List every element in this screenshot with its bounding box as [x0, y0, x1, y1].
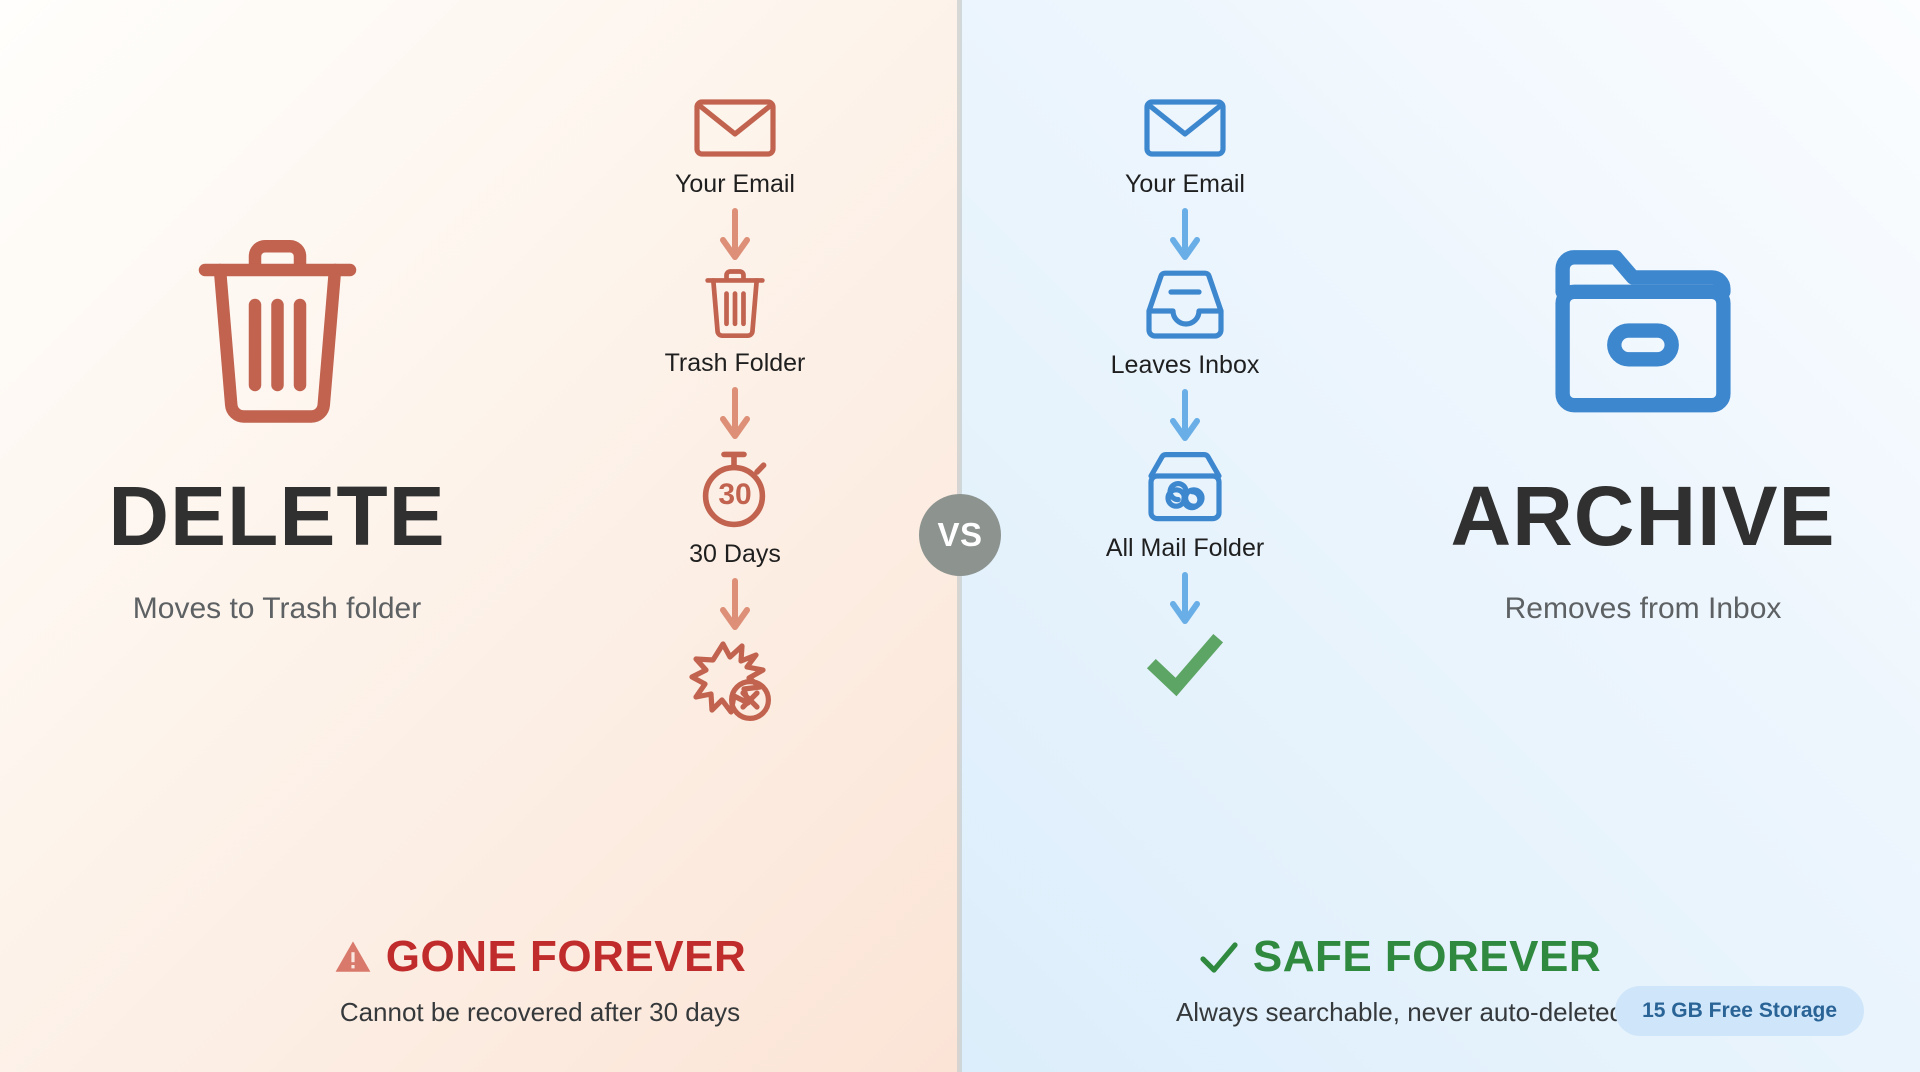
flow-label: Leaves Inbox [1111, 351, 1260, 380]
delete-panel: DELETE Moves to Trash folder Your Email [0, 0, 960, 1072]
envelope-icon [693, 96, 777, 160]
envelope-icon [1143, 96, 1227, 160]
archive-subtitle: Removes from Inbox [1428, 592, 1858, 626]
archive-outcome-headline: SAFE FOREVER [1020, 935, 1780, 979]
outcome-text: SAFE FOREVER [1253, 935, 1601, 979]
archive-box-infinity-icon [1143, 450, 1227, 524]
page-title-delete: DELETE [62, 474, 492, 558]
delete-flow: Your Email Trash Folder [610, 96, 860, 725]
flow-label: 30 Days [689, 540, 781, 569]
delete-subtitle: Moves to Trash folder [62, 592, 492, 626]
archive-summary: ARCHIVE Removes from Inbox [1428, 232, 1858, 626]
status-badge: 15 GB Free Storage [1615, 986, 1864, 1036]
trash-can-icon [702, 269, 768, 339]
flow-label: Your Email [1125, 170, 1245, 199]
archive-folder-icon [1428, 232, 1858, 432]
flow-label: All Mail Folder [1106, 534, 1264, 563]
arrow-down-icon [1170, 571, 1200, 627]
arrow-down-icon [720, 386, 750, 442]
delete-summary: DELETE Moves to Trash folder [62, 232, 492, 626]
arrow-down-icon [1170, 388, 1200, 444]
archive-panel: ARCHIVE Removes from Inbox Your Email [960, 0, 1920, 1072]
checkmark-icon [1199, 940, 1239, 974]
outcome-text: GONE FOREVER [386, 935, 747, 979]
infographic-root: DELETE Moves to Trash folder Your Email [0, 0, 1920, 1072]
arrow-down-icon [720, 207, 750, 263]
delete-outcome-headline: GONE FOREVER [160, 935, 920, 979]
warning-triangle-icon [334, 939, 372, 975]
flow-label: Your Email [675, 170, 795, 199]
archive-flow: Your Email Leaves Inbox [1060, 96, 1310, 697]
page-title-archive: ARCHIVE [1428, 474, 1858, 558]
inbox-tray-icon [1143, 269, 1227, 341]
arrow-down-icon [1170, 207, 1200, 263]
checkmark-icon [1143, 633, 1227, 697]
explosion-x-icon [689, 639, 781, 725]
stopwatch-days-value: 30 [718, 478, 751, 512]
stopwatch-icon: 30 [696, 448, 774, 530]
arrow-down-icon [720, 577, 750, 633]
delete-outcome: GONE FOREVER Cannot be recovered after 3… [160, 935, 920, 1028]
vs-badge: VS [919, 494, 1001, 576]
flow-label: Trash Folder [665, 349, 806, 378]
delete-outcome-detail: Cannot be recovered after 30 days [160, 997, 920, 1028]
trash-can-icon [62, 232, 492, 432]
